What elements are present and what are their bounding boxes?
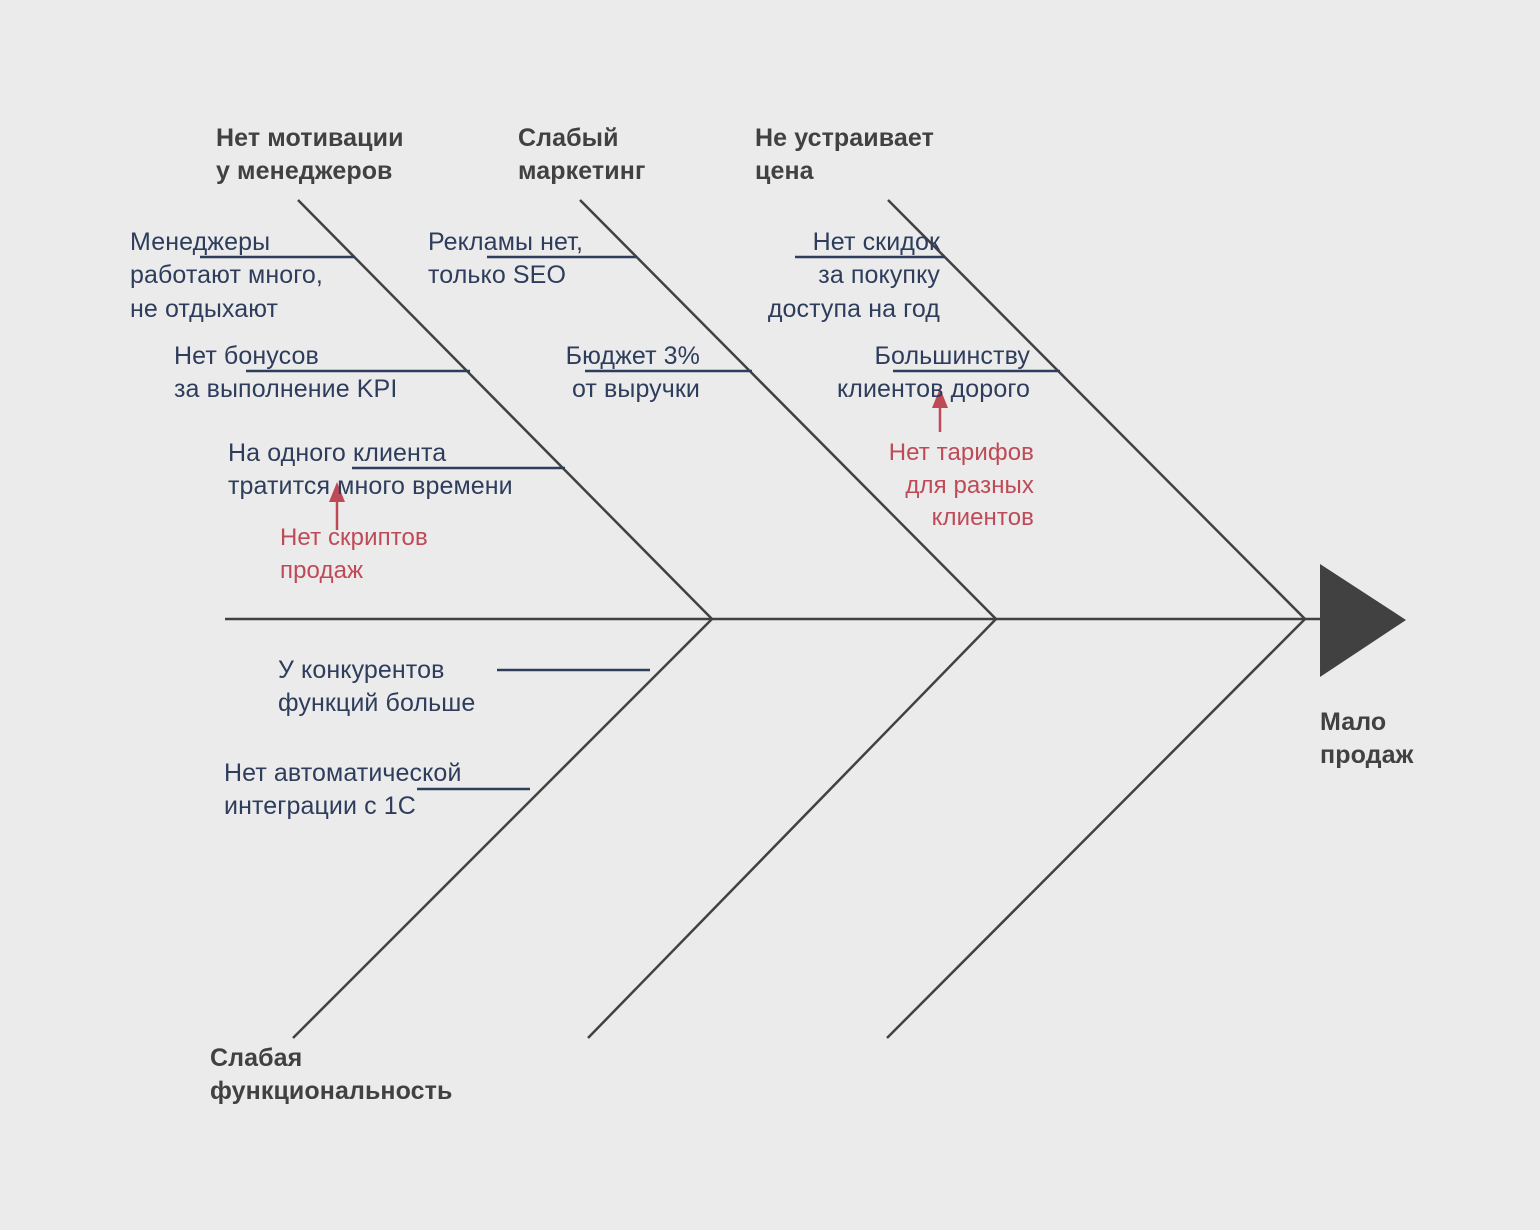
bone-price <box>888 200 1305 619</box>
bone-lower-3 <box>887 619 1305 1038</box>
sub-cause-motivation-1: Менеджеры работают много, не отдыхают <box>130 226 390 326</box>
sub-cause-marketing-1: Рекламы нет, только SEO <box>428 226 658 293</box>
sub-cause-functionality-2: Нет автоматической интеграции с 1С <box>224 757 524 824</box>
category-header-functionality: Слабая функциональность <box>210 1042 452 1108</box>
sub-cause-price-1: Нет скидок за покупку доступа на год <box>640 226 940 326</box>
sub-cause-motivation-3: На одного клиента тратится много времени <box>228 437 578 504</box>
category-header-marketing: Слабый маркетинг <box>518 122 645 188</box>
effect-arrowhead <box>1320 564 1406 677</box>
note-price-tariffs: Нет тарифов для разных клиентов <box>790 437 1034 535</box>
sub-cause-marketing-2: Бюджет 3% от выручки <box>450 340 700 407</box>
sub-cause-price-2: Большинству клиентов дорого <box>750 340 1030 407</box>
category-header-motivation: Нет мотивации у менеджеров <box>216 122 404 188</box>
sub-cause-motivation-2: Нет бонусов за выполнение KPI <box>174 340 474 407</box>
category-header-price: Не устраивает цена <box>755 122 934 188</box>
effect-label: Мало продаж <box>1320 706 1500 772</box>
note-motivation-scripts: Нет скриптов продаж <box>280 522 540 587</box>
sub-cause-functionality-1: У конкурентов функций больше <box>278 654 538 721</box>
fishbone-diagram: Нет мотивации у менеджеров Слабый маркет… <box>0 0 1540 1230</box>
